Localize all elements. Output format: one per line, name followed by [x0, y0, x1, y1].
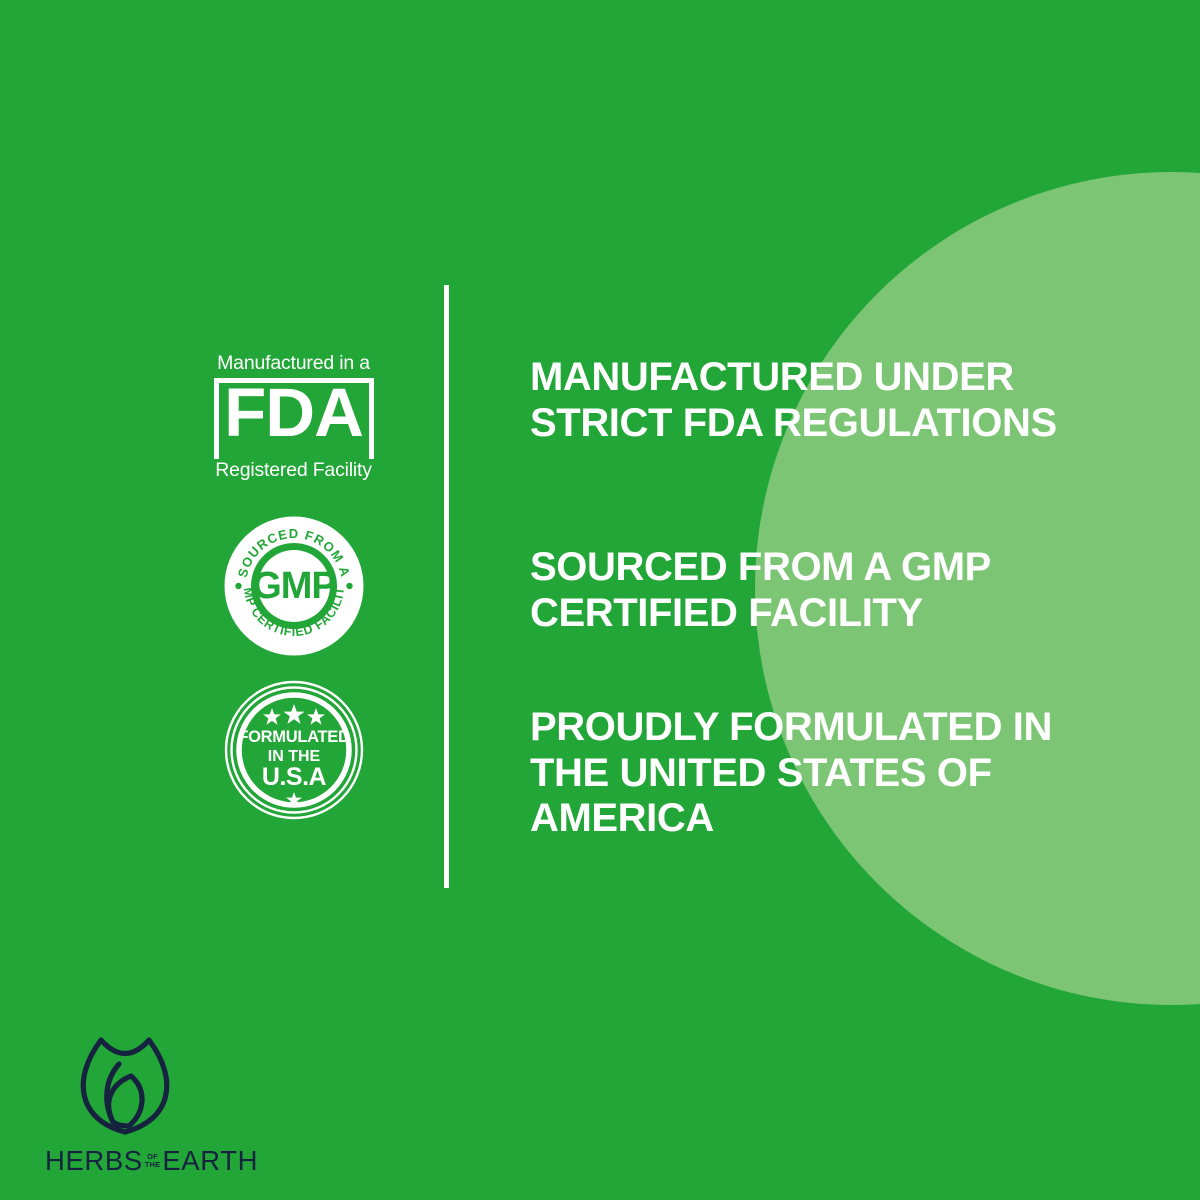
brand-wordmark: HERBS OF THE EARTH [45, 1145, 275, 1177]
fda-registered-facility-badge: Manufactured in a FDA Registered Facilit… [206, 350, 382, 478]
badge-slot-usa: FORMULATED IN THE U.S.A [196, 680, 391, 820]
feature-line: CERTIFIED FACILITY [530, 591, 1130, 637]
promo-graphic-canvas: Manufactured in a FDA Registered Facilit… [0, 0, 1200, 1200]
certification-badge-column: Manufactured in a FDA Registered Facilit… [196, 350, 391, 820]
formulated-in-usa-seal: FORMULATED IN THE U.S.A [224, 680, 364, 820]
badge-slot-gmp: SOURCED FROM A GMP CERTIFIED FACILITY GM… [196, 516, 391, 656]
feature-line: SOURCED FROM A GMP [530, 545, 1130, 591]
svg-text:U.S.A: U.S.A [261, 763, 326, 791]
feature-line: PROUDLY FORMULATED IN [530, 705, 1130, 751]
badge-slot-fda: Manufactured in a FDA Registered Facilit… [196, 350, 391, 478]
brand-logo: HERBS OF THE EARTH [45, 1028, 275, 1177]
fda-badge-top-label: Manufactured in a [206, 354, 382, 374]
feature-line: THE UNITED STATES OF [530, 751, 1130, 797]
fda-badge-bottom-label: Registered Facility [206, 461, 382, 481]
fda-badge-bottom-text: Registered Facility [211, 459, 376, 481]
feature-text-gmp: SOURCED FROM A GMP CERTIFIED FACILITY [530, 545, 1130, 636]
feature-line: AMERICA [530, 796, 1130, 842]
brand-word-first: HERBS [45, 1145, 143, 1177]
feature-line: STRICT FDA REGULATIONS [530, 401, 1130, 447]
vertical-divider [444, 285, 449, 888]
gmp-certified-seal: SOURCED FROM A GMP CERTIFIED FACILITY GM… [224, 516, 364, 656]
fda-badge-main-label: FDA [206, 378, 382, 447]
brand-stack-line-the: THE [145, 1161, 161, 1169]
brand-word-last: EARTH [162, 1145, 258, 1177]
svg-text:FORMULATED: FORMULATED [238, 728, 350, 746]
feature-text-usa: PROUDLY FORMULATED IN THE UNITED STATES … [530, 705, 1130, 842]
brand-word-stack: OF THE [145, 1153, 161, 1169]
feature-line: MANUFACTURED UNDER [530, 355, 1130, 401]
feature-text-fda: MANUFACTURED UNDER STRICT FDA REGULATION… [530, 355, 1130, 446]
leaf-logo-icon [63, 1028, 213, 1136]
svg-text:GMP: GMP [252, 565, 336, 607]
